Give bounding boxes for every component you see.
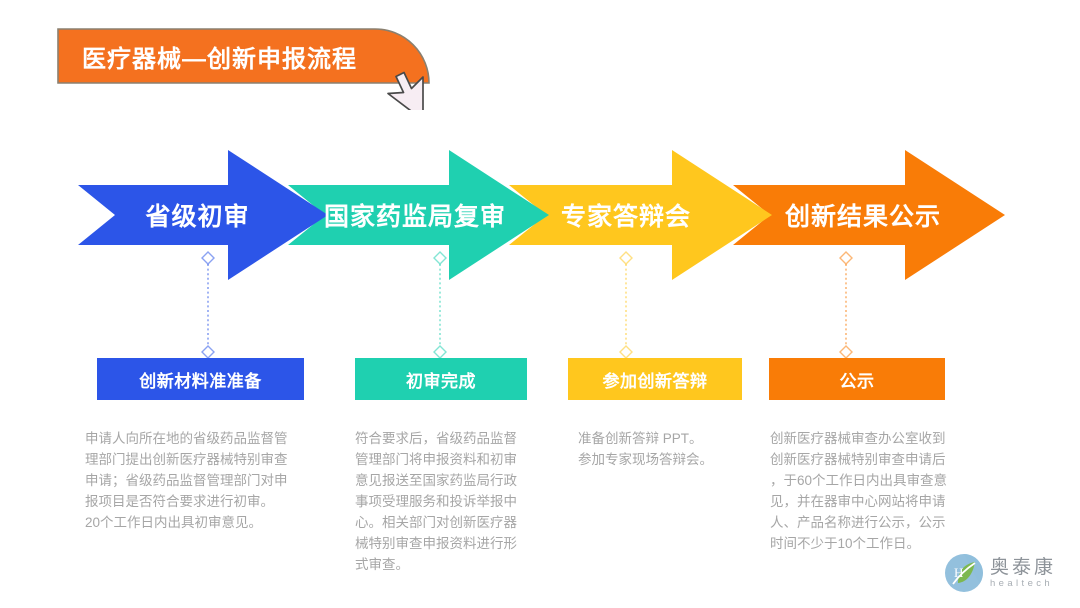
step-chip-0[interactable]: 创新材料准准备 [97, 358, 304, 400]
logo-letter-h: H [954, 565, 963, 580]
logo-wordmark: 奥泰康 healtech [990, 557, 1056, 590]
step-chip-2[interactable]: 参加创新答辩 [568, 358, 742, 400]
step-description-3: 创新医疗器械审查办公室收到 创新医疗器械特别审查申请后 ，于60个工作日内出具审… [770, 428, 990, 554]
flow-arrow-orange[interactable] [733, 150, 1005, 280]
connector-diamond-top [620, 252, 632, 264]
connector-diamond-top [202, 252, 214, 264]
connector-diamond-top [434, 252, 446, 264]
healtech-circle-logo-icon: H [944, 553, 984, 593]
step-description-1: 符合要求后，省级药品监督 管理部门将申报资料和初审 意见报送至国家药监局行政 事… [355, 428, 551, 575]
step-chip-1[interactable]: 初审完成 [355, 358, 527, 400]
connector-line-2 [618, 250, 634, 358]
step-description-2: 准备创新答辩 PPT。 参加专家现场答辩会。 [578, 428, 764, 470]
connector-diamond-bottom [840, 346, 852, 358]
connector-diamond-bottom [620, 346, 632, 358]
connector-line-0 [200, 250, 216, 358]
page-title: 医疗器械—创新申报流程 [57, 28, 397, 84]
step-chip-3[interactable]: 公示 [769, 358, 945, 400]
connector-diamond-top [840, 252, 852, 264]
flow-arrow-shapes [0, 140, 1080, 290]
connector-line-3 [838, 250, 854, 358]
connector-line-1 [432, 250, 448, 358]
connector-diamond-bottom [434, 346, 446, 358]
connector-diamond-bottom [202, 346, 214, 358]
logo-name-en: healtech [990, 578, 1056, 590]
brand-logo: H 奥泰康 healtech [944, 548, 1072, 598]
step-description-0: 申请人向所在地的省级药品监督管 理部门提出创新医疗器械特别审查 申请；省级药品监… [85, 428, 317, 533]
flow-arrow-row: 省级初审 国家药监局复审 专家答辩会 创新结果公示 [0, 140, 1080, 290]
logo-name-cn: 奥泰康 [990, 557, 1056, 578]
title-banner: 医疗器械—创新申报流程 [57, 28, 430, 84]
